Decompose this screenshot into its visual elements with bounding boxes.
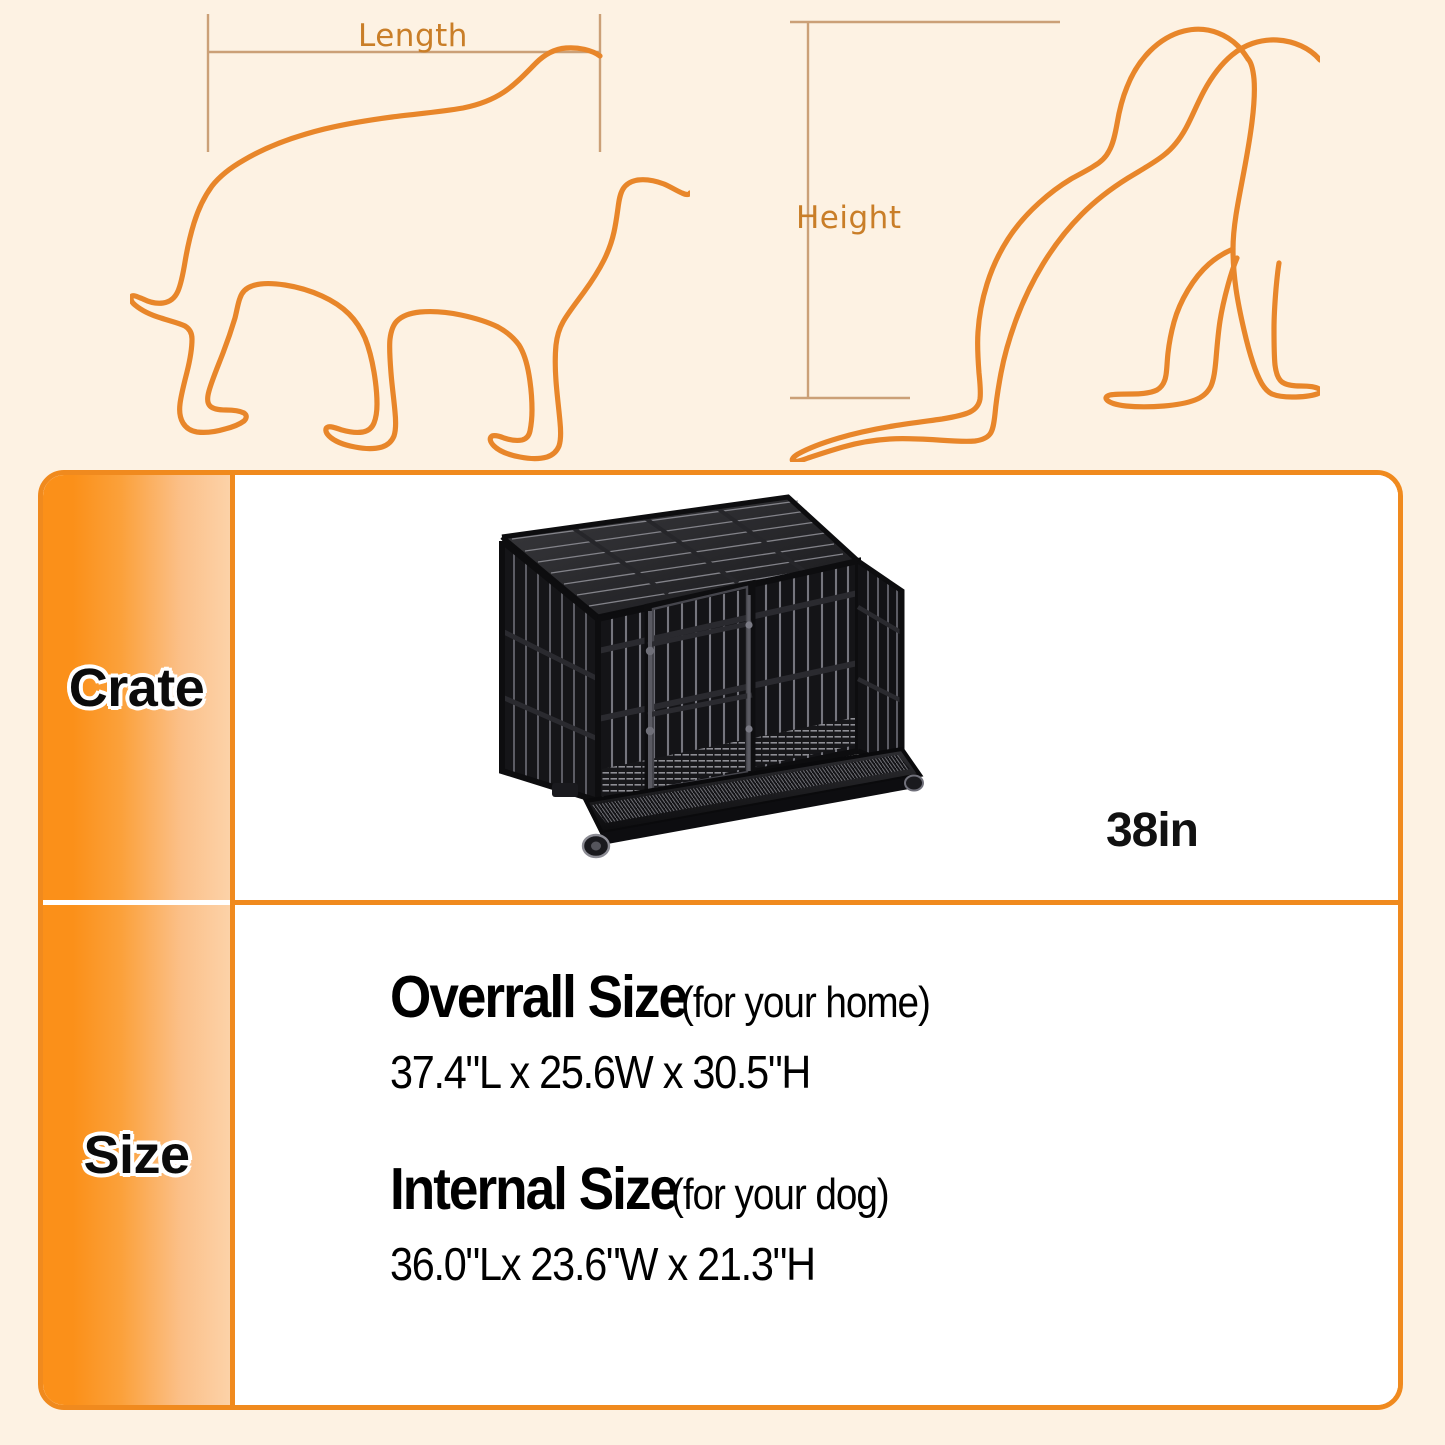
overall-size-note: (for your home) (681, 978, 930, 1028)
row-label-size: Size (43, 905, 230, 1405)
internal-size-dimensions: 36.0"Lx 23.6"W x 21.3"H (390, 1237, 1297, 1291)
overall-size-dimensions: 37.4"L x 25.6W x 30.5"H (390, 1045, 1297, 1099)
overall-size-heading-line: Overrall Size (for your home) (390, 963, 1398, 1031)
overall-size-heading: Overrall Size (390, 963, 686, 1031)
height-label: Height (796, 200, 901, 236)
dog-standing-outline-icon (131, 48, 690, 459)
internal-size-note: (for your dog) (671, 1170, 889, 1220)
spec-card: Crate Size (38, 470, 1403, 1410)
length-label: Length (358, 18, 468, 54)
internal-size-block: Internal Size (for your dog) 36.0"Lx 23.… (390, 1155, 1398, 1291)
heavy-duty-dog-crate-image (490, 483, 950, 883)
row-label-size-text: Size (83, 1124, 189, 1186)
row-label-crate: Crate (43, 475, 230, 905)
dog-size-diagram-area: Length Height (0, 0, 1445, 462)
row-label-crate-text: Crate (69, 657, 205, 719)
length-diagram: Length (130, 0, 690, 462)
size-spec-row: Overrall Size (for your home) 37.4"L x 2… (235, 905, 1398, 1405)
internal-size-heading-line: Internal Size (for your dog) (390, 1155, 1398, 1223)
standing-dog-diagram-svg (130, 0, 690, 462)
dog-sitting-outline-icon (792, 29, 1320, 461)
height-diagram: Height (760, 0, 1320, 462)
internal-size-heading: Internal Size (390, 1155, 677, 1223)
crate-right-side-panel (858, 561, 902, 769)
crate-depth-label: 38in (1106, 803, 1198, 858)
crate-photo-row: 38in (235, 475, 1398, 905)
overall-size-block: Overrall Size (for your home) 37.4"L x 2… (390, 963, 1398, 1099)
spec-content-column: 38in Overrall Size (for your home) 37.4"… (235, 475, 1398, 1405)
spec-label-column: Crate Size (43, 475, 235, 1405)
